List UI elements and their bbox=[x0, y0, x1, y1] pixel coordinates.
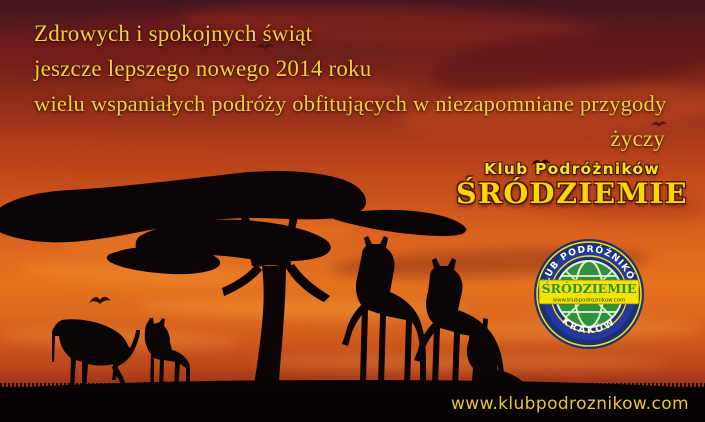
footer-url[interactable]: www.klubpodroznikow.com bbox=[451, 394, 689, 414]
greeting-card: Zdrowych i spokojnych świąt jeszcze leps… bbox=[0, 0, 705, 422]
greeting-line-3: wielu wspaniałych podróży obfitujących w… bbox=[34, 86, 687, 121]
badge-banner-url: www.klubpodroznikow.com bbox=[553, 298, 626, 304]
club-wordmark-top: Klub Podróżników bbox=[447, 160, 697, 178]
club-wordmark-main: ŚRÓDZIEMIE bbox=[445, 177, 700, 210]
greeting-signoff: życzy bbox=[34, 121, 687, 156]
club-wordmark: Klub Podróżników ŚRÓDZIEMIE bbox=[447, 160, 697, 210]
greeting-text-block: Zdrowych i spokojnych świąt jeszcze leps… bbox=[0, 0, 705, 156]
club-logo-badge[interactable]: KLUB PODRÓŻNIKÓW KRAKÓW ŚRÓDZIEMIE www.k… bbox=[533, 238, 645, 350]
greeting-line-1: Zdrowych i spokojnych świąt bbox=[34, 16, 687, 51]
greeting-line-2: jeszcze lepszego nowego 2014 roku bbox=[34, 51, 687, 86]
badge-banner-title: ŚRÓDZIEMIE bbox=[542, 280, 637, 296]
bird-silhouette bbox=[88, 295, 112, 307]
